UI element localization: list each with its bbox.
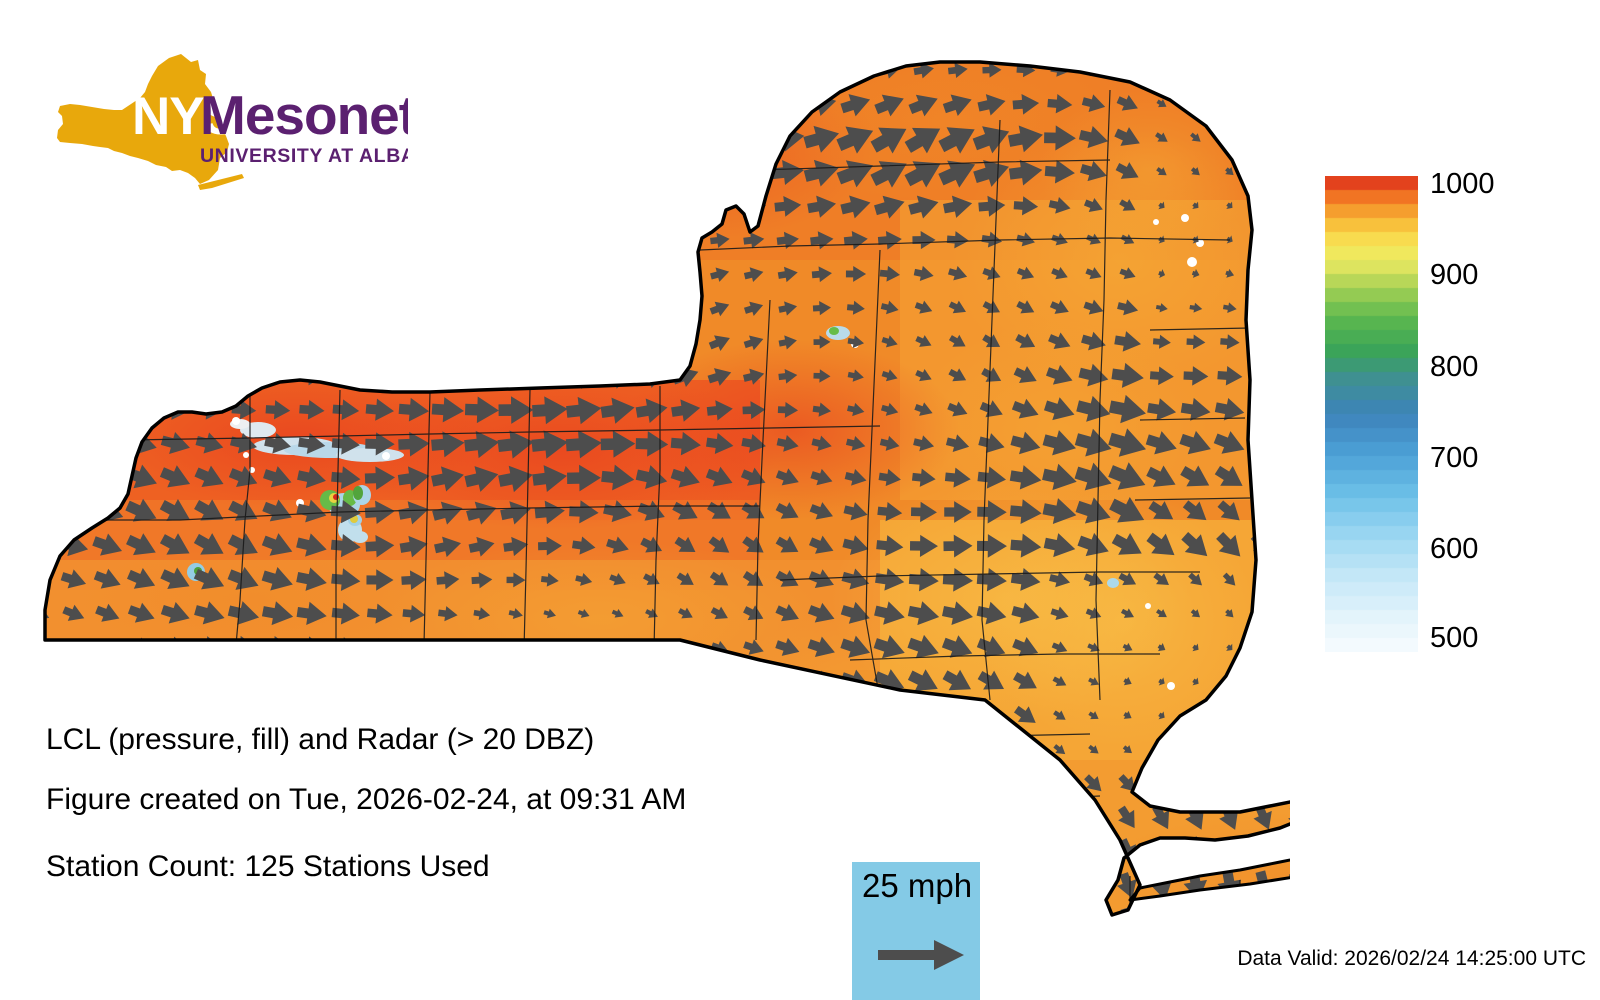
wind-arrow <box>60 364 88 387</box>
wind-arrow <box>541 233 559 248</box>
wind-arrow <box>608 265 629 283</box>
wind-arrow <box>977 735 1008 765</box>
wind-arrow <box>168 63 184 77</box>
wind-arrow <box>774 738 801 761</box>
wind-arrow <box>233 265 256 283</box>
wind-arrow <box>1251 365 1278 388</box>
wind-arrow <box>1248 396 1280 424</box>
wind-arrow <box>874 735 907 765</box>
wind-arrow <box>232 332 256 352</box>
wind-arrow <box>534 363 567 389</box>
wind-arrow <box>1082 907 1106 933</box>
wind-arrow <box>944 771 972 797</box>
wind-arrow <box>365 296 394 321</box>
wind-arrow <box>90 428 126 459</box>
wind-arrow <box>942 735 974 766</box>
wind-arrow <box>22 463 58 493</box>
wind-arrow <box>611 709 625 722</box>
wind-arrow <box>300 332 324 351</box>
wind-arrow <box>270 97 287 111</box>
wind-arrow <box>29 332 52 351</box>
wind-arrow <box>68 234 80 245</box>
wind-arrow <box>674 162 699 182</box>
wind-arrow <box>642 741 661 759</box>
wind-arrow <box>133 267 150 281</box>
wind-arrow <box>670 836 702 868</box>
wind-arrow <box>128 670 155 694</box>
colorbar <box>1325 176 1418 652</box>
wind-arrow <box>506 130 526 146</box>
map-canvas <box>0 0 1290 960</box>
wind-arrow <box>366 262 395 286</box>
wind-arrow <box>55 462 93 494</box>
wind-arrow <box>437 197 459 215</box>
wind-arrow <box>635 836 668 869</box>
wind-arrow <box>1016 910 1036 930</box>
wind-arrow <box>612 676 624 688</box>
wind-arrow <box>677 708 695 723</box>
radar-echo <box>1107 578 1119 588</box>
wind-arrow <box>675 265 697 284</box>
wind-arrow <box>502 839 529 865</box>
wind-arrow <box>1289 571 1290 590</box>
wind-arrow <box>641 163 663 181</box>
wind-arrow <box>940 699 976 733</box>
wind-arrow <box>432 328 464 356</box>
colorbar-tick-1000: 1000 <box>1430 170 1495 199</box>
wind-arrow <box>67 166 80 178</box>
wind-arrow <box>401 229 427 251</box>
wind-arrow <box>474 708 489 723</box>
wind-arrow <box>25 533 56 559</box>
wind-arrow <box>365 330 394 355</box>
wind-arrow <box>774 704 802 728</box>
wind-arrow <box>56 428 93 459</box>
wind-arrow <box>678 675 694 689</box>
wind-arrow <box>706 93 733 115</box>
wind-arrow <box>333 331 360 353</box>
wind-arrow <box>299 298 324 318</box>
wind-arrow <box>643 199 661 214</box>
wind-arrow <box>471 231 492 248</box>
wind-arrow <box>634 902 670 937</box>
wind-arrow <box>437 163 459 181</box>
wind-arrow <box>1281 529 1290 564</box>
wind-arrow <box>167 233 185 247</box>
wind-arrow <box>89 461 128 495</box>
wind-arrow <box>1225 710 1236 721</box>
wind-arrow <box>196 671 223 693</box>
wind-arrow <box>544 676 556 689</box>
wind-arrow <box>398 328 429 355</box>
wind-arrow <box>57 396 90 424</box>
wind-arrow <box>543 709 557 723</box>
wind-arrow <box>168 98 184 111</box>
wind-arrow <box>669 903 703 937</box>
wind-arrow <box>23 396 57 425</box>
wind-arrow <box>134 166 149 178</box>
wind-arrow <box>876 771 904 796</box>
wind-arrow <box>62 670 87 693</box>
colorbar-tick-500: 500 <box>1430 624 1478 653</box>
wind-arrow <box>1285 364 1290 388</box>
wind-arrow <box>676 741 697 759</box>
wind-arrow <box>501 872 530 899</box>
wind-arrow <box>29 671 51 693</box>
wind-arrow <box>272 914 284 925</box>
wind-arrow <box>198 332 221 351</box>
colorbar-tick-600: 600 <box>1430 535 1478 564</box>
wind-arrow <box>232 298 255 317</box>
wind-arrow <box>97 334 118 351</box>
wind-arrow <box>978 771 1006 798</box>
wind-arrow <box>534 871 567 902</box>
wind-arrow <box>200 130 219 146</box>
wind-arrow <box>1289 300 1290 316</box>
wind-arrow <box>600 902 637 938</box>
wind-arrow <box>337 97 355 111</box>
wind-arrow <box>672 127 699 150</box>
wind-arrow <box>298 228 327 252</box>
wind-arrow <box>1253 333 1274 351</box>
wind-arrow <box>533 904 566 935</box>
wind-arrow <box>502 297 529 320</box>
wind-arrow <box>506 96 526 112</box>
wind-arrow <box>506 164 526 180</box>
wind-arrow <box>1224 744 1236 756</box>
wind-arrow <box>674 297 699 319</box>
wind-arrow <box>605 297 631 319</box>
wind-arrow <box>101 166 115 178</box>
wind-arrow <box>367 670 393 693</box>
wind-arrow <box>99 301 116 315</box>
wind-arrow <box>910 771 938 797</box>
wind-arrow <box>1250 904 1278 936</box>
caption-product-title: LCL (pressure, fill) and Radar (> 20 DBZ… <box>46 725 594 755</box>
wind-arrow <box>577 709 590 722</box>
wind-arrow <box>34 234 45 245</box>
wind-arrow <box>134 200 149 212</box>
wind-arrow <box>574 266 595 283</box>
wind-arrow <box>264 194 292 218</box>
wind-arrow <box>808 772 835 796</box>
wind-arrow <box>238 914 250 926</box>
wind-arrow <box>299 161 326 184</box>
wind-arrow <box>499 362 533 390</box>
wind-arrow <box>265 161 291 184</box>
wind-arrow <box>60 907 88 932</box>
wind-arrow <box>65 96 83 111</box>
wind-arrow <box>1258 200 1270 212</box>
wind-arrow <box>371 97 389 111</box>
wind-arrow <box>740 161 769 184</box>
wind-arrow <box>237 64 251 76</box>
wind-arrow <box>472 130 493 147</box>
wind-arrow <box>1284 498 1290 526</box>
wind-arrow <box>303 97 320 111</box>
wind-arrow <box>199 299 221 317</box>
wind-arrow <box>981 842 1003 862</box>
wind-arrow <box>576 199 593 213</box>
wind-arrow <box>232 230 257 251</box>
wind-arrow <box>948 843 968 861</box>
radar-echo <box>829 327 839 335</box>
wind-arrow <box>506 198 525 214</box>
wind-arrow <box>366 228 394 251</box>
wind-arrow <box>468 295 497 320</box>
wind-arrow <box>541 165 559 180</box>
wind-arrow <box>568 837 600 868</box>
wind-arrow <box>740 872 769 900</box>
colorbar-tick-900: 900 <box>1430 261 1478 290</box>
wind-arrow <box>1049 908 1072 932</box>
wind-arrow <box>472 96 491 111</box>
wind-arrow <box>202 98 218 110</box>
wind-arrow <box>1047 771 1074 797</box>
wind-arrow <box>840 736 871 764</box>
wind-arrow <box>199 197 221 216</box>
wind-arrow <box>95 670 121 694</box>
wind-arrow <box>100 268 115 280</box>
wind-arrow <box>99 62 118 78</box>
wind-arrow <box>741 60 766 80</box>
wind-arrow <box>1014 840 1038 864</box>
wind-arrow <box>134 97 150 111</box>
wind-arrow <box>706 805 735 832</box>
wind-arrow <box>332 228 361 252</box>
wind-arrow <box>1283 396 1290 424</box>
wind-arrow <box>465 361 500 390</box>
wind-arrow <box>34 269 47 279</box>
wind-arrow <box>233 129 254 147</box>
wind-arrow <box>704 904 736 935</box>
wind-arrow <box>707 772 733 795</box>
wind-arrow <box>403 163 425 181</box>
wind-arrow <box>22 429 59 459</box>
wind-arrow <box>844 807 868 828</box>
wind-arrow <box>99 97 116 111</box>
wind-arrow <box>404 130 425 147</box>
wind-arrow <box>368 162 392 181</box>
wind-arrow <box>367 195 393 216</box>
wind-arrow <box>742 672 766 693</box>
wind-arrow <box>1183 771 1208 797</box>
wind-arrow <box>915 844 934 861</box>
wind-arrow <box>96 908 121 931</box>
wind-arrow <box>810 807 835 829</box>
radar-echo <box>353 486 363 500</box>
wind-arrow <box>398 362 430 389</box>
wind-arrow <box>608 164 628 180</box>
wind-arrow <box>333 161 359 182</box>
data-valid-timestamp: Data Valid: 2026/02/24 14:25:00 UTC <box>1237 948 1586 970</box>
wind-arrow <box>25 907 55 933</box>
wind-arrow <box>339 64 353 75</box>
wind-arrow <box>198 366 222 386</box>
wind-arrow <box>740 906 768 934</box>
wind-arrow <box>1257 165 1271 179</box>
wind-arrow <box>806 702 837 729</box>
wind-arrow <box>436 230 460 249</box>
wind-arrow <box>162 671 190 694</box>
wind-arrow <box>168 912 184 928</box>
wind-arrow <box>101 234 115 246</box>
wind-arrow <box>872 699 908 732</box>
wind-key-arrow-icon <box>878 938 964 972</box>
wind-arrow <box>739 126 769 150</box>
wind-arrow <box>166 266 185 282</box>
wind-arrow <box>846 843 867 862</box>
wind-arrow <box>232 161 256 182</box>
wind-arrow <box>1149 905 1174 935</box>
wind-arrow <box>31 96 50 112</box>
wind-arrow <box>1117 60 1139 80</box>
wind-arrow <box>431 362 465 391</box>
wind-arrow <box>500 329 531 355</box>
wind-arrow <box>1255 570 1274 589</box>
wind-arrow <box>842 772 870 797</box>
wind-arrow <box>740 805 768 830</box>
wind-arrow <box>572 298 597 319</box>
wind-arrow <box>370 130 391 147</box>
wind-arrow <box>1287 772 1290 796</box>
wind-arrow <box>202 64 217 77</box>
wind-arrow <box>774 670 802 695</box>
wind-arrow <box>946 807 970 829</box>
wind-arrow <box>133 63 150 78</box>
wind-arrow <box>807 737 836 763</box>
wind-arrow <box>132 910 153 930</box>
wind-arrow <box>1190 744 1202 756</box>
wind-arrow <box>264 671 292 693</box>
caption-figure-created: Figure created on Tue, 2026-02-24, at 09… <box>46 785 686 815</box>
wind-arrow <box>66 301 83 314</box>
wind-arrow <box>266 332 290 351</box>
wind-arrow <box>1156 64 1167 76</box>
colorbar-group: 1000 900 800 700 600 500 <box>1325 176 1575 656</box>
wind-arrow <box>538 298 562 318</box>
wind-arrow <box>605 59 632 81</box>
wind-arrow <box>641 265 662 283</box>
wind-arrow <box>231 195 257 217</box>
wind-arrow <box>1047 838 1074 865</box>
wind-arrow <box>405 97 423 112</box>
wind-arrow <box>305 64 319 75</box>
wind-arrow <box>23 498 57 526</box>
wind-arrow <box>130 366 154 385</box>
wind-arrow <box>740 838 768 865</box>
wind-arrow <box>676 232 695 248</box>
wind-arrow <box>878 808 901 829</box>
wind-arrow <box>1047 873 1072 899</box>
wind-arrow <box>566 869 601 902</box>
wind-arrow <box>301 129 324 148</box>
wind-arrow <box>32 301 48 314</box>
wind-arrow <box>373 913 388 927</box>
wind-arrow <box>704 870 736 901</box>
wind-arrow <box>741 772 767 795</box>
wind-arrow <box>1257 131 1272 145</box>
wind-arrow <box>400 262 428 286</box>
wind-arrow <box>609 233 627 248</box>
wind-arrow <box>134 234 150 247</box>
wind-arrow <box>1258 268 1271 280</box>
wind-arrow <box>980 806 1005 829</box>
wind-arrow <box>439 97 458 112</box>
wind-arrow <box>643 232 661 247</box>
wind-arrow <box>332 194 360 218</box>
wind-arrow <box>809 59 834 80</box>
wind-arrow <box>471 61 492 79</box>
wind-arrow <box>1156 744 1169 757</box>
wind-arrow <box>676 198 696 214</box>
wind-arrow <box>1256 301 1273 315</box>
wind-arrow <box>399 295 429 321</box>
wind-arrow <box>706 161 733 183</box>
wind-arrow <box>56 496 92 527</box>
wind-arrow <box>644 709 659 723</box>
wind-arrow <box>539 95 561 113</box>
wind-arrow <box>906 699 943 733</box>
wind-arrow <box>536 331 565 354</box>
wind-arrow <box>265 264 290 284</box>
wind-arrow <box>332 297 359 320</box>
wind-arrow <box>639 59 666 81</box>
colorbar-tick-700: 700 <box>1430 444 1478 473</box>
wind-arrow <box>610 199 627 212</box>
wind-arrow <box>230 671 259 694</box>
wind-arrow <box>1282 462 1290 493</box>
wind-arrow <box>167 165 185 180</box>
wind-arrow <box>839 701 873 732</box>
wind-arrow <box>1190 64 1202 76</box>
wind-arrow <box>601 836 634 868</box>
wind-arrow <box>509 709 523 723</box>
wind-arrow <box>101 200 115 211</box>
wind-arrow <box>469 263 494 284</box>
wind-arrow <box>92 397 124 424</box>
wind-arrow <box>537 59 562 80</box>
wind-arrow <box>165 333 188 352</box>
wind-arrow <box>34 166 47 178</box>
wind-arrow <box>167 199 185 214</box>
wind-arrow <box>1224 64 1236 76</box>
wind-key-label: 25 mph <box>862 868 972 903</box>
wind-arrow <box>306 914 318 926</box>
wind-arrow <box>775 60 800 81</box>
wind-arrow <box>298 194 327 219</box>
wind-arrow <box>501 906 531 934</box>
wind-arrow <box>438 62 457 78</box>
wind-arrow <box>645 676 659 689</box>
wind-arrow <box>775 806 801 830</box>
wind-arrow <box>811 910 833 930</box>
wind-arrow <box>1252 772 1275 797</box>
wind-arrow <box>606 94 631 115</box>
wind-arrow <box>1257 607 1270 620</box>
wind-arrow <box>266 299 290 318</box>
wind-arrow <box>131 333 153 350</box>
wind-arrow <box>166 299 187 316</box>
wind-arrow <box>609 742 627 759</box>
wind-arrow <box>95 365 121 386</box>
wind-arrow <box>203 913 217 927</box>
wind-arrow <box>437 910 459 931</box>
wind-arrow <box>271 64 285 75</box>
wind-arrow <box>776 908 801 932</box>
wind-arrow <box>34 200 45 212</box>
wind-arrow <box>912 808 935 829</box>
